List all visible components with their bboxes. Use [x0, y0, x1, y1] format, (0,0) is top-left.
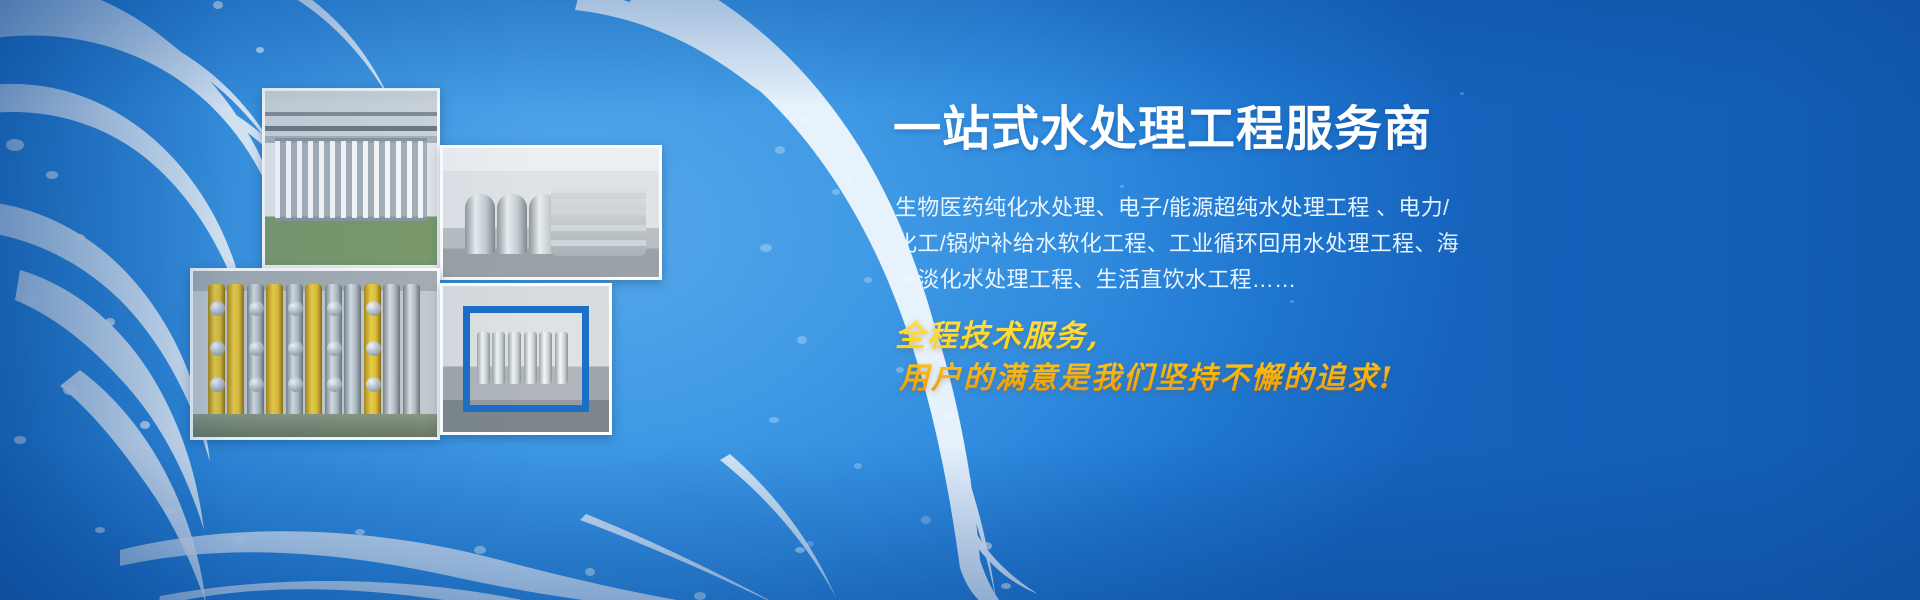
slogan-line: 全程技术服务,: [895, 316, 1394, 358]
photo-collage: [0, 0, 700, 600]
photo-ultrafiltration-membrane-rack: [262, 88, 440, 268]
service-description-line: 生物医药纯化水处理、电子/能源超纯水处理工程 、电力/: [895, 190, 1475, 226]
photo-yellow-membrane-housings: [190, 268, 440, 440]
photo-ro-storage-tanks: [440, 145, 662, 280]
company-slogan: 全程技术服务, 用户的满意是我们坚持不懈的追求!: [895, 316, 1394, 400]
service-description: 生物医药纯化水处理、电子/能源超纯水处理工程 、电力/ 化工/锅炉补给水软化工程…: [895, 190, 1475, 298]
service-description-line: 化工/锅炉补给水软化工程、工业循环回用水处理工程、海: [895, 226, 1475, 262]
service-description-line: 水淡化水处理工程、生活直饮水工程……: [895, 262, 1475, 298]
photo-blue-frame-membrane-skid: [440, 283, 612, 435]
banner-text-block: 一站式水处理工程服务商 生物医药纯化水处理、电子/能源超纯水处理工程 、电力/ …: [893, 0, 1513, 600]
page-title: 一站式水处理工程服务商: [893, 104, 1432, 156]
hero-banner: 一站式水处理工程服务商 生物医药纯化水处理、电子/能源超纯水处理工程 、电力/ …: [0, 0, 1920, 600]
slogan-line: 用户的满意是我们坚持不懈的追求!: [895, 358, 1394, 400]
